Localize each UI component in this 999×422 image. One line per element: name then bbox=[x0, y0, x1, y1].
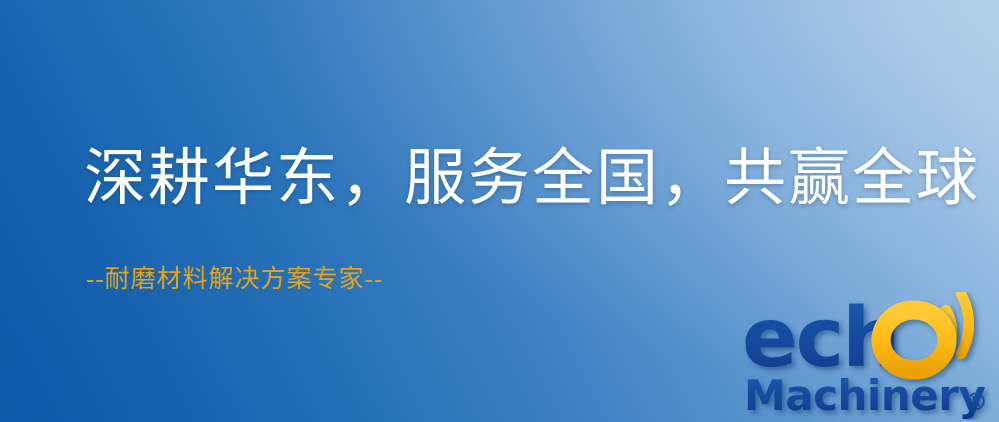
hero-banner: 深耕华东，服务全国，共赢全球 --耐磨材料解决方案专家-- bbox=[0, 0, 999, 422]
echo-machinery-logo[interactable]: ech Machinery ® bbox=[742, 292, 994, 420]
banner-subtitle: --耐磨材料解决方案专家-- bbox=[86, 267, 383, 292]
banner-headline: 深耕华东，服务全国，共赢全球 bbox=[84, 148, 980, 210]
svg-text:®: ® bbox=[964, 388, 988, 416]
logo-tagline-machinery: Machinery ® bbox=[744, 371, 988, 420]
svg-text:Machinery: Machinery bbox=[744, 371, 985, 420]
